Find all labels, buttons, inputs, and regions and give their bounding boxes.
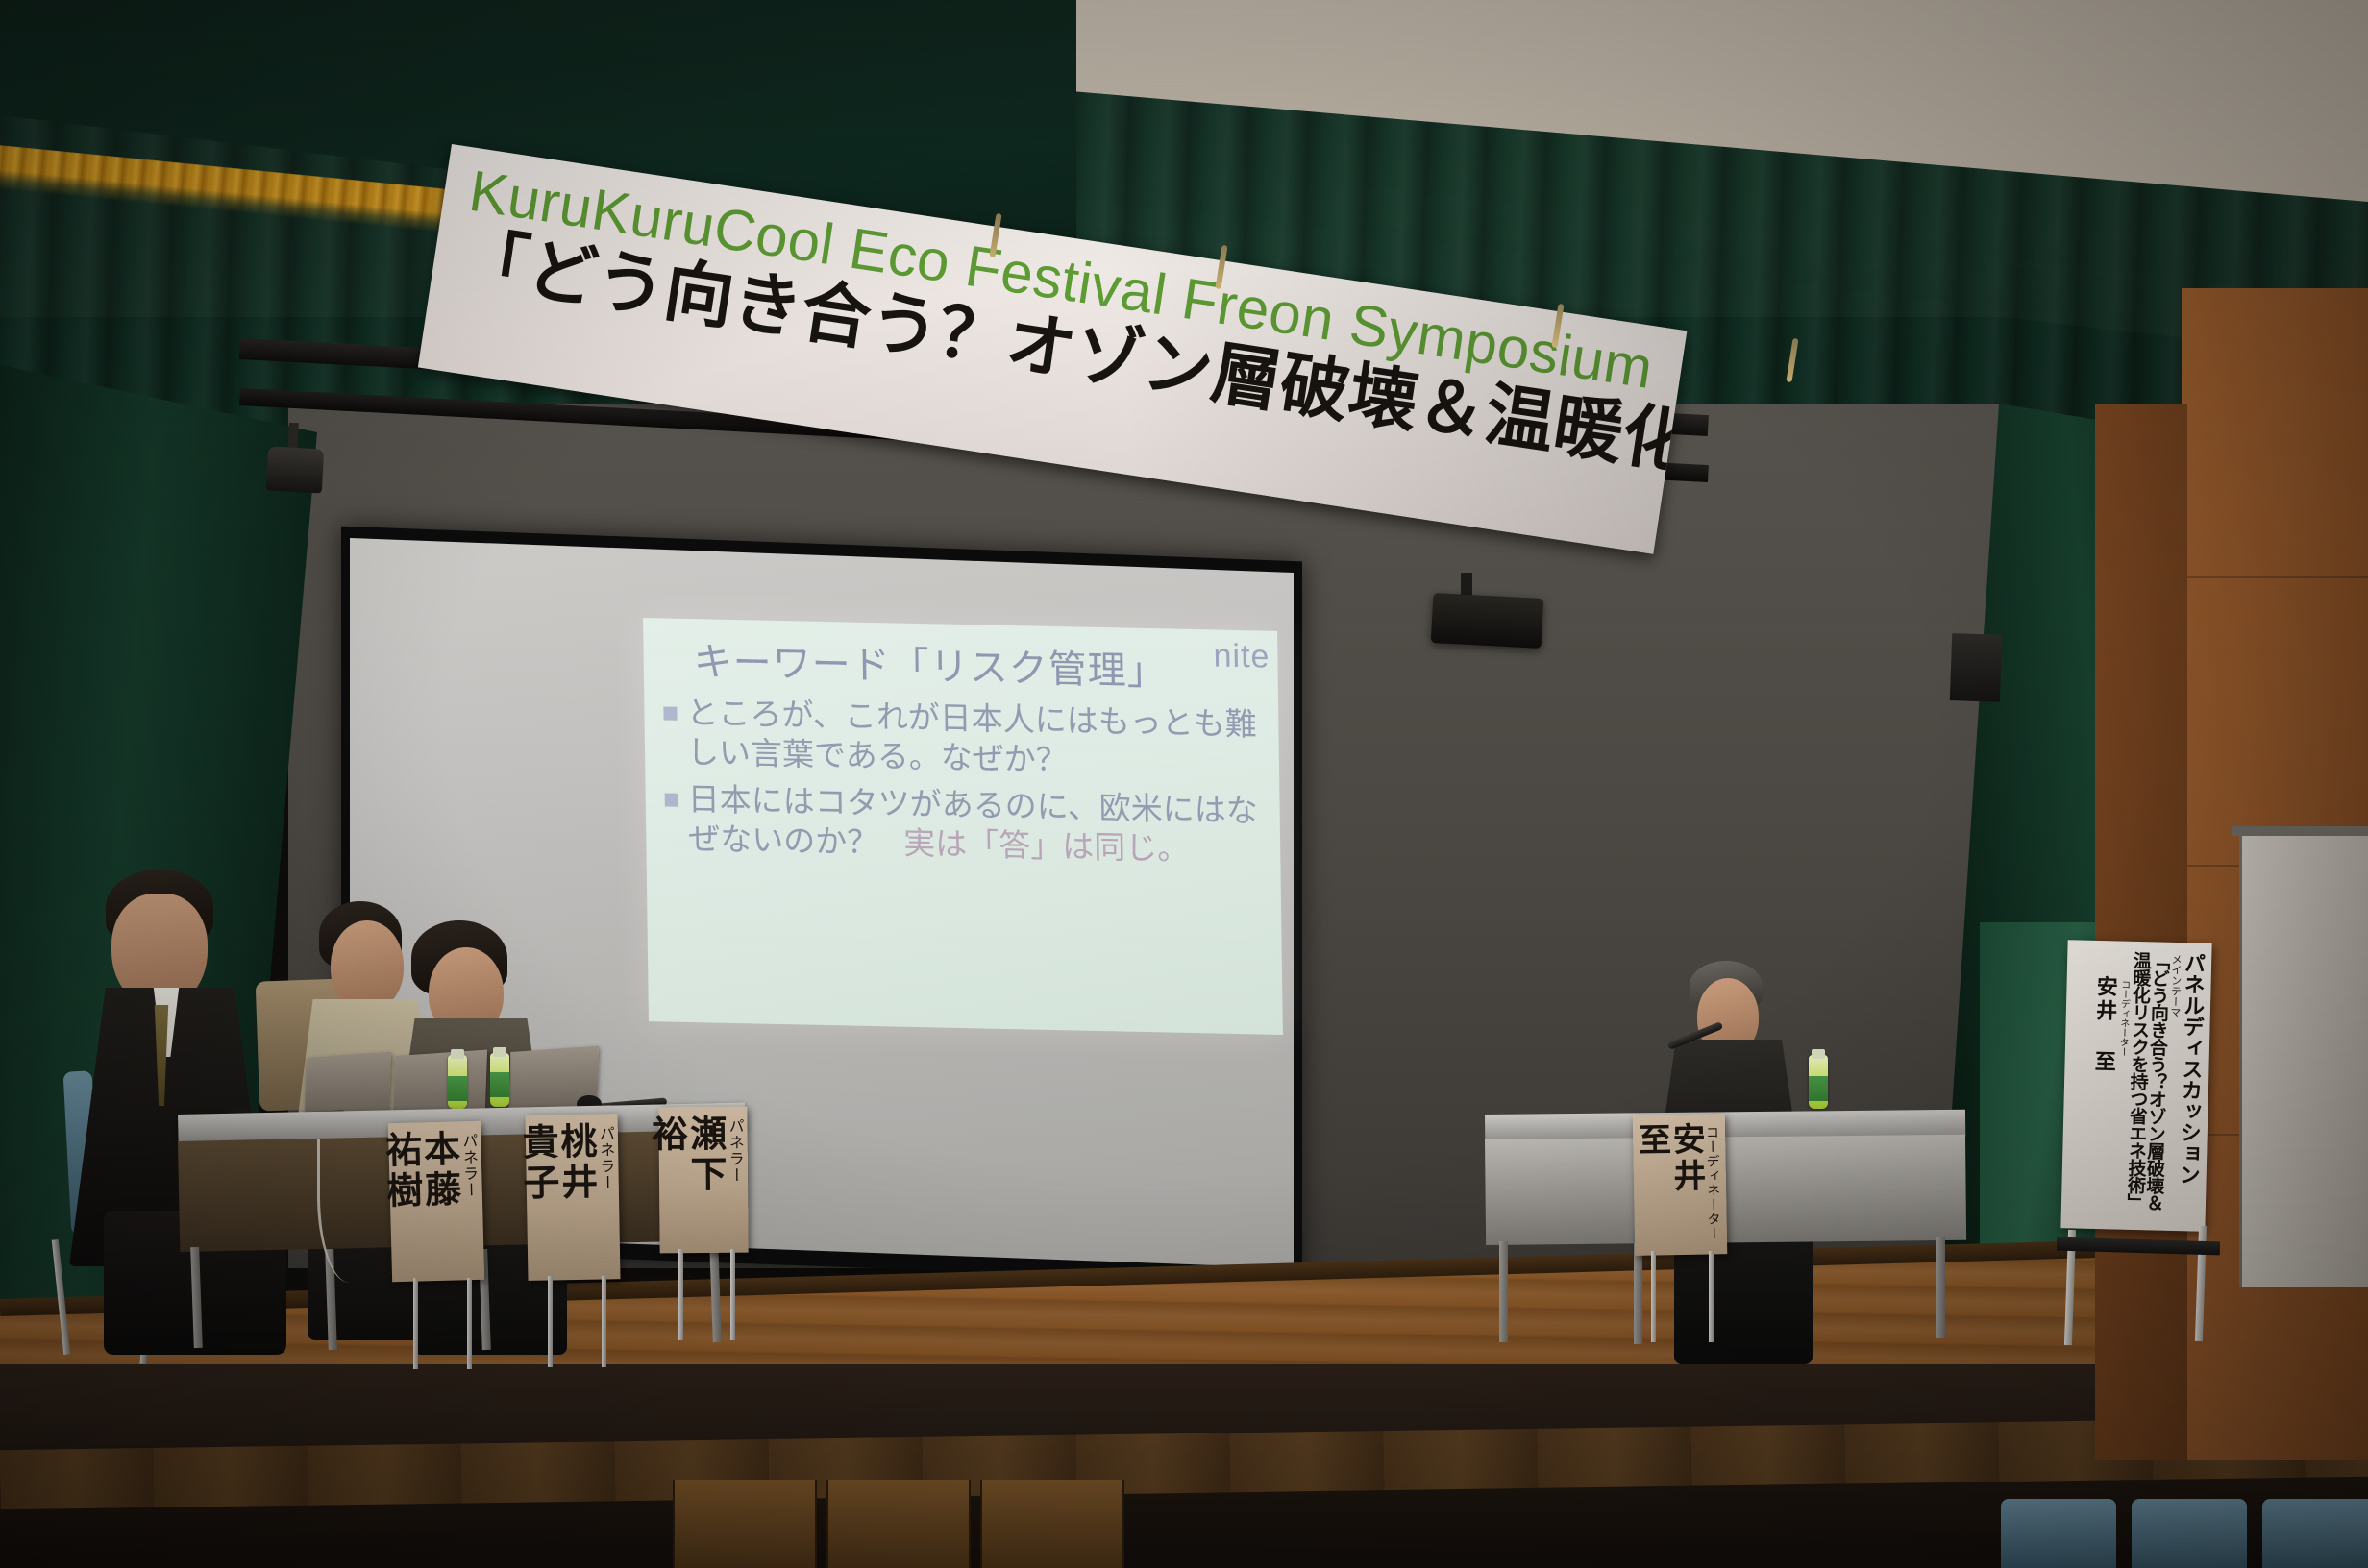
table-leg [1936,1237,1945,1338]
slide-bullet-item: ところが、これが日本人にはもっとも難しい言葉である。なぜか？ [661,693,1260,784]
table-leg [1634,1243,1642,1344]
nameplate-name: 桃井 貴子 [516,1122,595,1273]
nameplate-stand [1709,1251,1714,1342]
panel-discussion-standing-sign: パネルディスカッション メインテーマ 「どう向き合う？オゾン層破壊＆温暖化リスク… [2060,940,2211,1232]
stage-scene: KuruKuruCool Eco Festival Freon Symposiu… [0,0,2368,1568]
projected-slide: nite キーワード「リスク管理」 ところが、これが日本人にはもっとも難しい言葉… [643,618,1283,1035]
drink-bottle [448,1055,467,1109]
audience-chair [2132,1499,2247,1568]
slide-bullet-text: ところが、これが日本人にはもっとも難しい言葉である。なぜか？ [686,694,1260,784]
nameplate-role: パネラー [597,1125,613,1190]
nameplate-name: 安井 至 [1633,1122,1704,1248]
stage-apron-panel [673,1480,817,1568]
table-leg [1499,1241,1508,1342]
bottle-cap [451,1049,464,1059]
drink-bottle [1809,1055,1828,1109]
spotlight-fixture [266,447,324,494]
nameplate-stand [1651,1251,1656,1342]
nameplate-panelist-2: パネラー 桃井 貴子 [526,1114,621,1281]
nameplate-stand [413,1278,418,1369]
sign-theme: 「どう向き合う？オゾン層破壊＆温暖化リスクを持つ省エネ技術」 [2125,951,2169,1221]
nameplate-stand [730,1249,735,1340]
audience-chair [2001,1499,2116,1568]
slide-bullet-text: 日本にはコタツがあるのに、欧米にはなぜないのか？実は「答」は同じ。 [687,780,1261,870]
sign-title: パネルディスカッション [2177,952,2204,1185]
nameplate-role: パネラー [459,1133,477,1198]
nameplate-stand [678,1249,683,1340]
sign-coordinator-name: 安井 至 [2092,975,2117,1075]
bullet-square-icon [663,706,677,720]
nameplate-panelist-3: パネラー 瀬下 裕 [658,1107,748,1254]
ceiling-projector [1431,593,1544,649]
nameplate-role: パネラー [726,1118,742,1184]
speaker-box [1950,633,2002,702]
wall-seam [2182,576,2368,578]
slide-title: キーワード「リスク管理」 [693,630,1259,698]
exit-door[interactable] [2239,836,2368,1287]
slide-bullet-item: 日本にはコタツがあるのに、欧米にはなぜないのか？実は「答」は同じ。 [662,779,1261,870]
nameplate-name: 本藤 祐樹 [379,1129,459,1274]
nameplate-role: コーディネーター [1706,1125,1721,1240]
bullet-square-icon [665,793,678,806]
slide-bullet-tail: 実は「答」は同じ。 [903,824,1189,866]
sign-coordinator-label: コーディネーター [2117,980,2129,1057]
nameplate-coordinator: コーディネーター 安井 至 [1633,1114,1728,1256]
stage-apron-panel [826,1480,971,1568]
bottle-cap [493,1047,506,1057]
stage-apron-panel [980,1480,1124,1568]
sign-theme-label: メインテーマ [2169,954,2182,1017]
nameplate-name: 瀬下 裕 [646,1115,724,1246]
nameplate-stand [467,1278,472,1369]
wall-column [2095,404,2187,1460]
nameplate-panelist-1: パネラー 本藤 祐樹 [388,1121,484,1282]
bottle-cap [1812,1049,1825,1059]
slide-bullet-list: ところが、これが日本人にはもっとも難しい言葉である。なぜか？ 日本にはコタツがあ… [661,693,1261,870]
door-frame [2232,826,2368,836]
nameplate-stand [602,1276,606,1367]
drink-bottle [490,1053,509,1107]
audience-chair [2262,1499,2368,1568]
nameplate-stand [548,1276,553,1367]
